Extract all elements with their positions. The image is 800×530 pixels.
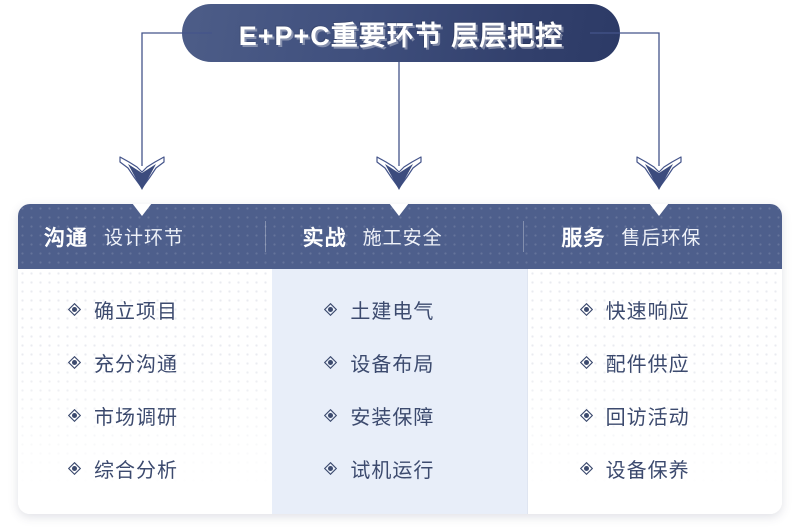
header-col-execution[interactable]: 实战 施工安全 [265, 204, 524, 269]
list-item[interactable]: 回访活动 [528, 389, 782, 442]
header-title-execution: 实战 [303, 222, 347, 252]
diamond-bullet-icon [324, 462, 337, 475]
arrow-right [590, 33, 681, 190]
diamond-bullet-icon [68, 356, 81, 369]
list-item-label: 快速响应 [606, 295, 690, 324]
list-item[interactable]: 设备保养 [528, 442, 782, 495]
header-title-service: 服务 [561, 222, 605, 252]
list-item[interactable]: 设备布局 [272, 336, 526, 389]
arrow-left [120, 33, 212, 190]
diamond-bullet-icon [580, 356, 593, 369]
diamond-bullet-icon [580, 462, 593, 475]
card-header: 沟通 设计环节 实战 施工安全 服务 售后环保 [18, 204, 782, 269]
diamond-bullet-icon [580, 303, 593, 316]
list-item[interactable]: 市场调研 [18, 389, 272, 442]
header-subtitle-service: 售后环保 [621, 223, 701, 250]
header-col-service[interactable]: 服务 售后环保 [523, 204, 782, 269]
diamond-bullet-icon [68, 462, 81, 475]
diamond-bullet-icon [324, 356, 337, 369]
diamond-bullet-icon [68, 409, 81, 422]
list-item-label: 安装保障 [350, 401, 434, 430]
phases-card: 沟通 设计环节 实战 施工安全 服务 售后环保 确立项目 [18, 204, 782, 514]
list-item-label: 回访活动 [606, 401, 690, 430]
header-subtitle-execution: 施工安全 [363, 223, 443, 250]
arrow-middle [377, 62, 421, 190]
diamond-bullet-icon [324, 409, 337, 422]
list-item-label: 充分沟通 [94, 348, 178, 377]
list-item-label: 土建电气 [350, 295, 434, 324]
list-item-label: 配件供应 [606, 348, 690, 377]
list-item[interactable]: 土建电气 [272, 283, 526, 336]
list-item-label: 设备布局 [350, 348, 434, 377]
list-item[interactable]: 确立项目 [18, 283, 272, 336]
diamond-bullet-icon [580, 409, 593, 422]
list-item[interactable]: 充分沟通 [18, 336, 272, 389]
list-item[interactable]: 配件供应 [528, 336, 782, 389]
body-col-communication: 确立项目 充分沟通 市场调研 [18, 269, 272, 514]
list-item-label: 确立项目 [94, 295, 178, 324]
connector-arrows [0, 0, 800, 210]
card-body: 确立项目 充分沟通 市场调研 [18, 269, 782, 514]
body-col-execution: 土建电气 设备布局 安装保障 [272, 269, 526, 514]
list-item[interactable]: 试机运行 [272, 442, 526, 495]
list-item-label: 市场调研 [94, 401, 178, 430]
list-item-label: 综合分析 [94, 454, 178, 483]
infographic-root: E+P+C重要环节 层层把控 [0, 0, 800, 530]
body-col-service: 快速响应 配件供应 回访活动 [527, 269, 782, 514]
header-col-communication[interactable]: 沟通 设计环节 [18, 204, 265, 269]
list-item[interactable]: 综合分析 [18, 442, 272, 495]
header-subtitle-communication: 设计环节 [104, 223, 184, 250]
list-item-label: 设备保养 [606, 454, 690, 483]
list-item[interactable]: 安装保障 [272, 389, 526, 442]
diamond-bullet-icon [68, 303, 81, 316]
header-title-communication: 沟通 [44, 222, 88, 252]
list-item-label: 试机运行 [350, 454, 434, 483]
list-item[interactable]: 快速响应 [528, 283, 782, 336]
diamond-bullet-icon [324, 303, 337, 316]
